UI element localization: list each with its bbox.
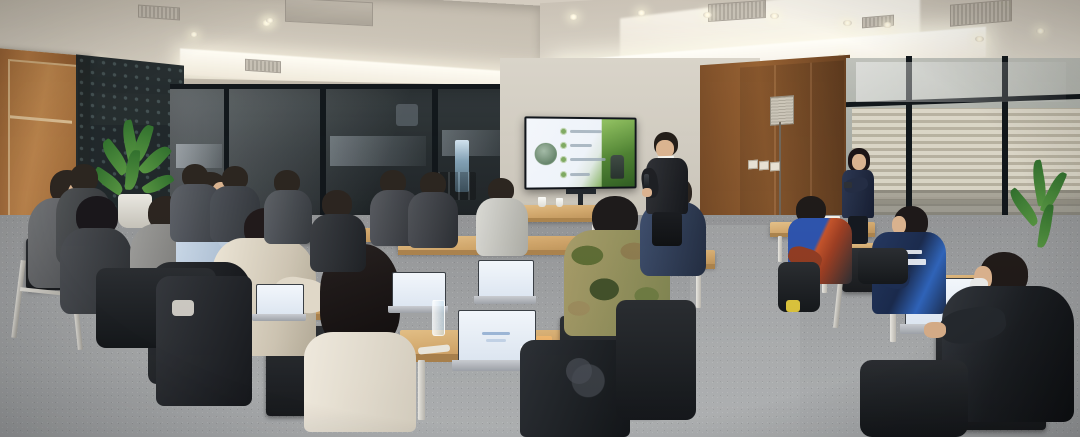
phone[interactable] <box>844 182 852 188</box>
ceiling-spotlight <box>975 36 984 42</box>
water-bottle <box>432 300 445 336</box>
laptop-base[interactable] <box>474 296 536 304</box>
desk-leg <box>778 236 782 262</box>
ceiling-spotlight <box>569 14 578 20</box>
attendee-white-shirt-back <box>476 178 530 254</box>
slide-bullet-1 <box>560 128 602 135</box>
torso <box>476 198 528 256</box>
slide-bullet-text <box>570 158 606 161</box>
ceiling-spotlight <box>637 10 646 16</box>
slide-bullet-text <box>570 144 592 147</box>
glass-reflection <box>396 104 418 126</box>
display-stand <box>566 189 596 194</box>
laptop-base[interactable] <box>252 314 306 321</box>
backpack <box>616 300 696 420</box>
presenter-hand <box>642 188 652 197</box>
backpack <box>520 340 630 437</box>
backpack <box>858 248 908 284</box>
torso <box>408 192 458 248</box>
slide-bullet-icon <box>560 171 567 178</box>
laptop-screen-content <box>482 332 510 335</box>
ceiling-spotlight <box>883 22 892 28</box>
hand <box>924 322 946 338</box>
slide-bullet-text <box>570 173 590 176</box>
ceiling-vent-3 <box>245 59 281 74</box>
torso <box>310 214 366 272</box>
ceiling-spotlight <box>1036 28 1045 34</box>
bag-accent <box>786 300 800 312</box>
slide-bullet-4 <box>560 171 602 178</box>
slide-bullet-icon <box>560 128 567 135</box>
laptop[interactable] <box>474 260 536 306</box>
presenter-legs <box>652 212 682 246</box>
garment-tag <box>172 300 194 316</box>
light-switch[interactable] <box>770 162 780 172</box>
slide-photo-panel <box>602 119 635 187</box>
glass-reflection <box>330 136 426 166</box>
slide-bullet-icon <box>560 156 567 163</box>
torso <box>304 332 416 432</box>
paper-cup <box>556 198 563 207</box>
wall-speaker <box>770 95 794 126</box>
slide-bullet-2 <box>560 142 602 149</box>
slide-photo-figure <box>611 155 625 179</box>
coat-on-chair <box>156 276 252 406</box>
slide-bullet-3 <box>560 156 606 163</box>
face <box>852 154 866 170</box>
ceiling-spotlight <box>190 32 198 37</box>
laptop-screen-content <box>486 339 506 342</box>
ceiling-spotlight <box>843 20 852 26</box>
laptop-screen <box>256 284 304 316</box>
light-switch[interactable] <box>748 160 758 170</box>
seminar-room-photograph <box>0 0 1080 437</box>
attendee-back-row-4 <box>310 190 368 270</box>
slide-bullet-icon <box>560 142 567 149</box>
glass-reflection <box>856 62 1066 102</box>
ceiling-vent-1 <box>285 0 373 26</box>
slide-content <box>526 118 634 187</box>
attendee-back-row-6 <box>408 172 462 246</box>
attendee-back-row-3 <box>264 170 314 242</box>
laptop[interactable] <box>252 284 306 324</box>
ceiling-spotlight <box>770 13 779 19</box>
light-switch[interactable] <box>759 161 769 171</box>
presentation-display <box>524 116 636 189</box>
torso <box>264 190 312 244</box>
ceiling-spotlight <box>703 12 712 18</box>
microphone[interactable] <box>644 174 649 187</box>
laptop-screen <box>478 260 534 298</box>
backpack-logo <box>566 358 592 384</box>
presenter <box>642 132 694 244</box>
ceiling-spotlight <box>266 18 274 23</box>
slide-bullet-text <box>570 130 602 133</box>
paper-cup <box>538 197 546 207</box>
slide-speaker-avatar <box>535 143 557 165</box>
backpack <box>860 360 968 437</box>
